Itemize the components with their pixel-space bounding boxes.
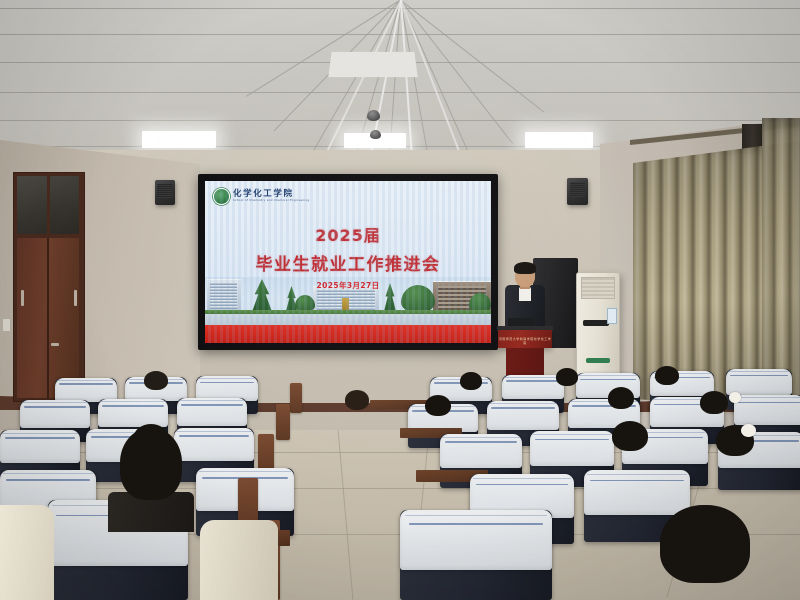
seat-headrest-cover (0, 430, 80, 463)
seat-headrest-cover (174, 428, 254, 461)
university-emblem-icon (213, 188, 230, 205)
seat-armrest (276, 404, 290, 440)
slide-logo: 化学化工学院 School of Chemistry and Chemical … (213, 188, 309, 205)
slide-title-line1: 2025届 (205, 222, 491, 246)
window-curtain-far-right[interactable] (762, 118, 800, 410)
seat-headrest-cover (177, 398, 247, 426)
door-handle-left[interactable] (21, 290, 24, 306)
ceiling-light-right (525, 132, 593, 148)
conference-room-photo: 化学化工学院 School of Chemistry and Chemical … (0, 0, 800, 600)
auditorium-seat[interactable] (400, 510, 552, 600)
attendee-head (608, 387, 634, 409)
ceiling-access-panel (328, 52, 417, 77)
hair-clip (729, 392, 741, 403)
light-switch[interactable] (2, 318, 11, 332)
attendee-jacket (200, 520, 278, 600)
attendee-head (345, 390, 369, 410)
attendee-head (460, 372, 482, 390)
podium-inscription: 河南师范大学新联学院化学化工学院 (498, 337, 552, 345)
smoke-detector-upper (367, 110, 380, 121)
wall-speaker-right (567, 178, 588, 205)
seat-headrest-cover (487, 401, 559, 430)
door-lock-handle[interactable] (51, 343, 59, 346)
attendee-head (144, 371, 168, 390)
seat-headrest-cover (502, 375, 564, 399)
slide-org-name-cn: 化学化工学院 (233, 190, 309, 199)
air-conditioner-brand-badge (586, 358, 610, 363)
attendee-head (612, 421, 648, 451)
seat-headrest-cover (98, 399, 168, 427)
attendee-head (120, 428, 182, 500)
door-center-seam (47, 238, 49, 398)
slide-date: 2025年3月27日 (205, 280, 491, 291)
seat-armrest (290, 383, 302, 413)
attendee-head (700, 391, 728, 414)
wall-speaker-left (155, 180, 175, 205)
attendee-head (425, 395, 451, 416)
attendee-head (556, 368, 578, 386)
seat-headrest-cover (584, 470, 690, 515)
hair-clip (741, 424, 756, 437)
campus-plaza (205, 314, 491, 325)
slide-title-line2: 毕业生就业工作推进会 (205, 250, 491, 275)
door-transom-mullion (47, 176, 50, 234)
presenter-hair (514, 262, 536, 274)
seat-headrest-cover (530, 431, 614, 466)
air-conditioner-vent (581, 277, 615, 299)
slide-red-band (205, 325, 491, 343)
seat-headrest-cover (400, 510, 552, 570)
ceiling-light-left (142, 131, 216, 148)
air-conditioner-sticker (607, 308, 617, 324)
slide-org-name-en: School of Chemistry and Chemical Enginee… (233, 200, 309, 203)
attendee-head (660, 505, 750, 583)
projection-screen[interactable]: 化学化工学院 School of Chemistry and Chemical … (205, 181, 491, 343)
attendee-sweater (0, 505, 54, 600)
seat-headrest-cover (734, 395, 800, 425)
air-conditioner-display (583, 320, 609, 326)
smoke-detector-lower (370, 130, 381, 139)
podium-base (506, 348, 544, 378)
presenter-shirt (519, 287, 531, 301)
attendee-head (655, 366, 679, 385)
podium: 河南师范大学新联学院化学化工学院 (498, 330, 552, 348)
seat-headrest-cover (440, 434, 522, 468)
door-handle-right[interactable] (74, 290, 77, 306)
seat-headrest-cover (20, 400, 90, 428)
